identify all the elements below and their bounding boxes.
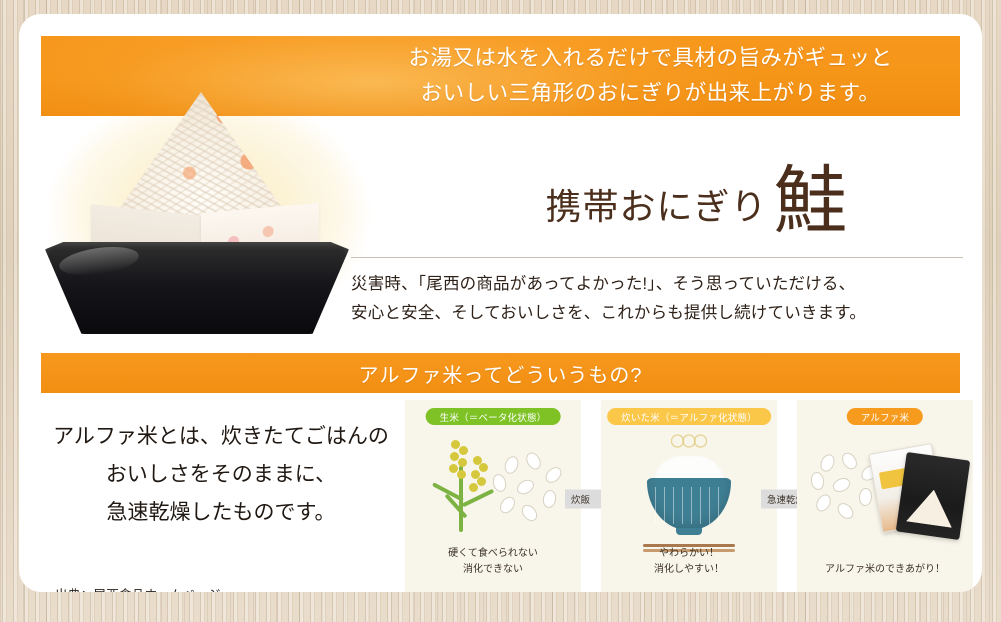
- advertisement-page: お湯又は水を入れるだけで具材の旨みがギュッと おいしい三角形のおにぎりが出来上が…: [0, 0, 1001, 622]
- diagram-panel-cooked-rice: 炊いた米（＝アルファ化状態） やわらかい！ 消化しやすい！: [601, 400, 777, 592]
- headline-text: お湯又は水を入れるだけで具材の旨みがギュッと おいしい三角形のおにぎりが出来上が…: [341, 36, 960, 116]
- source-attribution: 出典：尾西食品ホームページ: [55, 584, 221, 592]
- panel-2-caption-line-2: 消化しやすい！: [601, 562, 777, 578]
- diagram-panel-raw-rice: 生米（＝ベータ化状態）: [405, 400, 581, 592]
- product-title-main: 鮭: [774, 167, 849, 238]
- diagram-panel-alpha-rice: アルファ米 アルファ米のできあがり！: [797, 400, 973, 592]
- explanation-line-2: おいしさをそのままに、: [41, 456, 401, 494]
- panel-1-label: 生米（＝ベータ化状態）: [426, 408, 561, 425]
- bowl-foot: [676, 528, 702, 535]
- section-heading-bar: アルファ米ってどういうもの?: [41, 353, 960, 393]
- hero-section: お湯又は水を入れるだけで具材の旨みがギュッと おいしい三角形のおにぎりが出来上が…: [19, 14, 982, 334]
- explanation-text: アルファ米とは、炊きたてごはんの おいしさをそのままに、 急速乾燥したものです。: [41, 418, 401, 533]
- panel-3-label: アルファ米: [847, 408, 923, 425]
- divider-top: [351, 257, 963, 258]
- panel-3-caption-line-1: アルファ米のできあがり！: [797, 562, 973, 578]
- panel-1-caption-line-2: 消化できない: [405, 562, 581, 578]
- steam-icon: [671, 426, 707, 456]
- content-card: お湯又は水を入れるだけで具材の旨みがギュッと おいしい三角形のおにぎりが出来上が…: [19, 14, 982, 592]
- panel-1-caption: 硬くて食べられない 消化できない: [405, 546, 581, 578]
- product-title: 携帯おにぎり 鮭: [462, 154, 932, 238]
- product-title-prefix: 携帯おにぎり: [545, 178, 767, 238]
- lead-line-2: 安心と安全、そしておいしさを、これからも提供し続けていきます。: [351, 299, 967, 328]
- panel-1-caption-line-1: 硬くて食べられない: [405, 546, 581, 562]
- onigiri-product-photo: 写真はイメージです: [33, 92, 363, 322]
- rice-bowl-icon: [647, 478, 731, 530]
- lead-line-1: 災害時、「尾西の商品があってよかった!」、そう思っていただける、: [351, 270, 967, 299]
- headline-line-2: おいしい三角形のおにぎりが出来上がります。: [421, 76, 881, 111]
- process-diagram: 生米（＝ベータ化状態）: [405, 400, 981, 592]
- product-package-dark: [896, 452, 971, 540]
- section-heading-text: アルファ米ってどういうもの?: [359, 359, 643, 388]
- raw-grains-icon: [491, 452, 567, 524]
- arrow-cooking-label: 炊飯: [571, 492, 590, 506]
- panel-2-label: 炊いた米（＝アルファ化状態）: [607, 408, 771, 425]
- explanation-line-1: アルファ米とは、炊きたてごはんの: [41, 418, 401, 456]
- headline-line-1: お湯又は水を入れるだけで具材の旨みがギュッと: [408, 41, 892, 76]
- explanation-line-3: 急速乾燥したものです。: [41, 494, 401, 532]
- panel-3-caption: アルファ米のできあがり！: [797, 562, 973, 578]
- lead-paragraph: 災害時、「尾西の商品があってよかった!」、そう思っていただける、 安心と安全、そ…: [351, 270, 967, 327]
- panel-2-caption-line-1: やわらかい！: [601, 546, 777, 562]
- panel-2-caption: やわらかい！ 消化しやすい！: [601, 546, 777, 578]
